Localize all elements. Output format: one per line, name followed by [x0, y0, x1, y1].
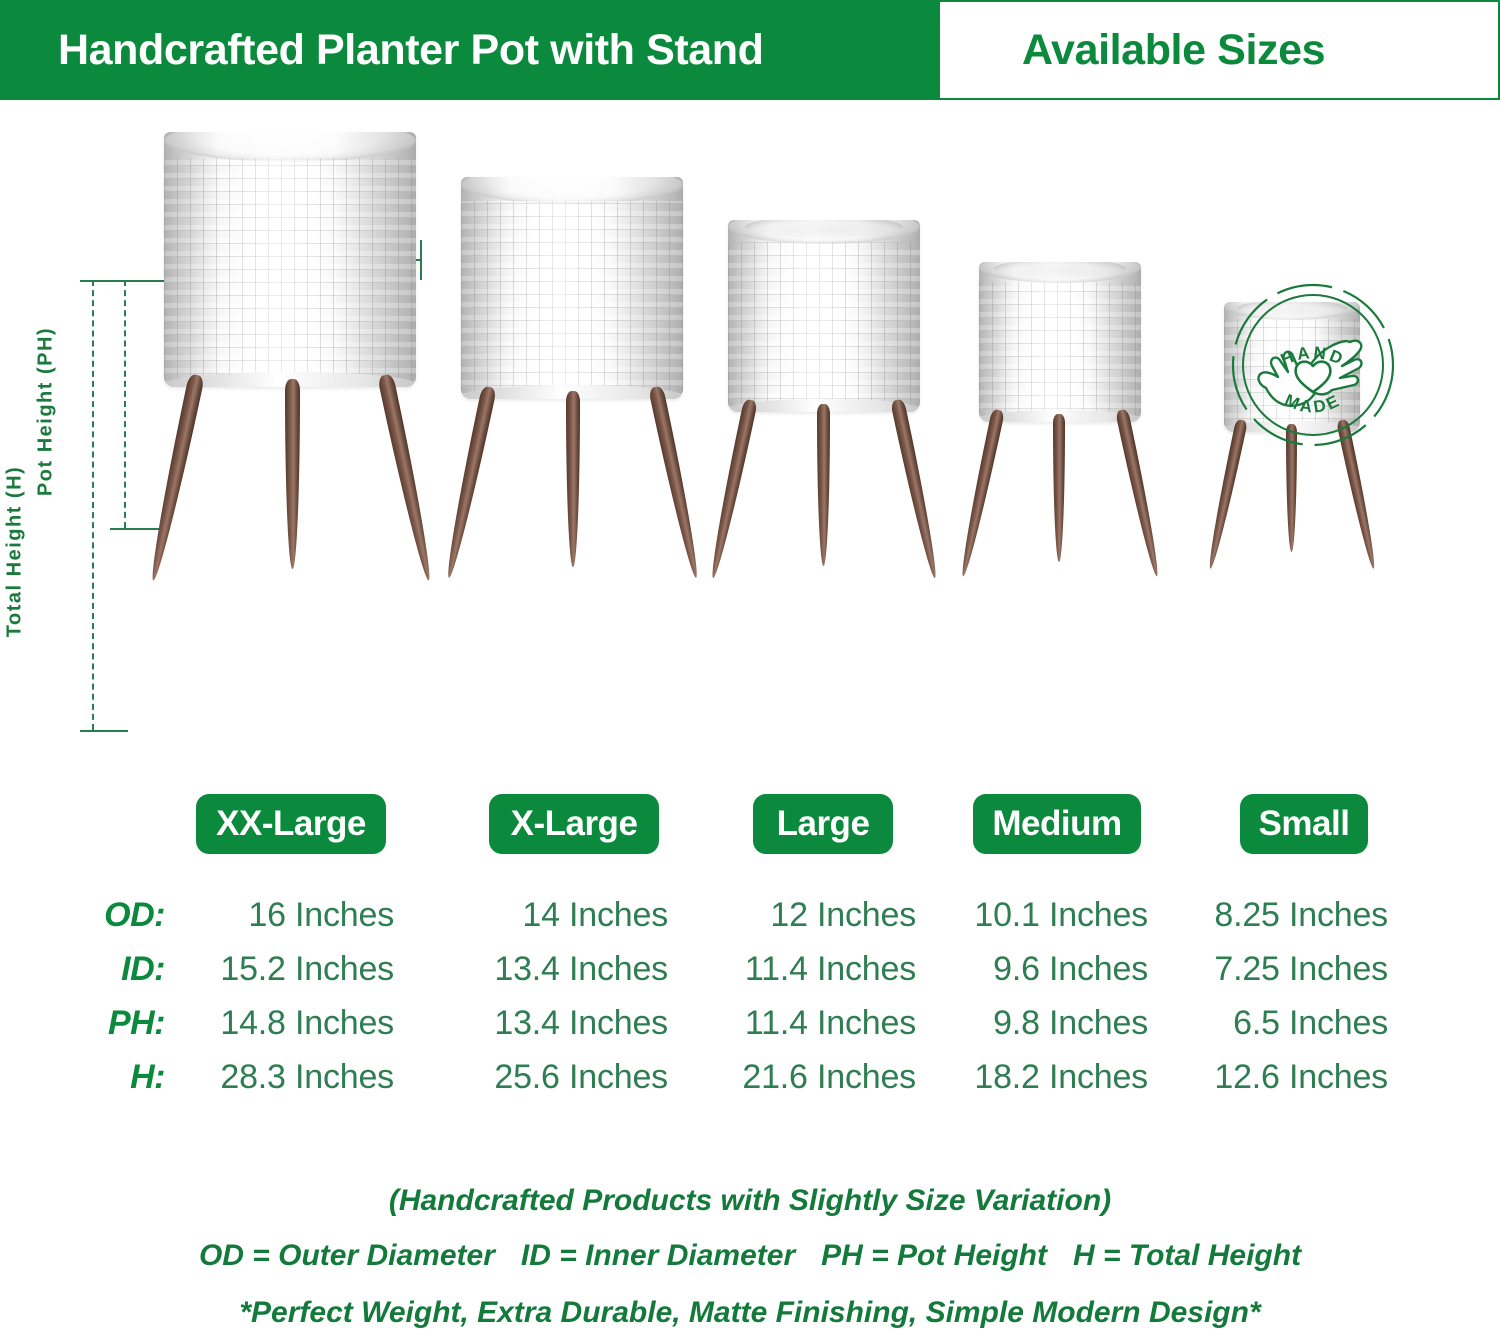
cell-id-medium: 9.6 Inches — [950, 942, 1148, 996]
size-badge-label: XX-Large — [216, 804, 366, 844]
cell-id-x-large: 13.4 Inches — [470, 942, 668, 996]
cell-ph-xx-large: 14.8 Inches — [196, 996, 394, 1050]
pot-body — [979, 262, 1141, 422]
size-badge-label: Large — [777, 804, 870, 844]
cell-ph-medium: 9.8 Inches — [950, 996, 1148, 1050]
table-row: OD: 16 Inches 14 Inches 12 Inches 10.1 I… — [0, 888, 1500, 942]
pot-leg-right — [890, 399, 942, 580]
cell-h-x-large: 25.6 Inches — [470, 1050, 668, 1104]
size-badge-x-large[interactable]: X-Large — [489, 794, 659, 854]
cell-ph-small: 6.5 Inches — [1190, 996, 1388, 1050]
table-row: ID: 15.2 Inches 13.4 Inches 11.4 Inches … — [0, 942, 1500, 996]
handmade-badge: HAND MADE — [1228, 280, 1398, 450]
cell-id-xx-large: 15.2 Inches — [196, 942, 394, 996]
pot-leg-left — [442, 385, 497, 579]
cell-h-xx-large: 28.3 Inches — [196, 1050, 394, 1104]
pot-leg-center — [566, 391, 580, 567]
legend-od: OD = Outer Diameter — [199, 1239, 495, 1272]
legend-h: H = Total Height — [1073, 1239, 1301, 1272]
footer-legend: OD = Outer DiameterID = Inner DiameterPH… — [0, 1227, 1500, 1285]
planter-large — [718, 132, 930, 770]
size-badge-large[interactable]: Large — [753, 794, 893, 854]
pot-leg-right — [1115, 409, 1163, 578]
footer-notes: (Handcrafted Products with Slightly Size… — [0, 1175, 1500, 1341]
pot-gloss — [728, 220, 920, 412]
cell-ph-x-large: 13.4 Inches — [470, 996, 668, 1050]
pot-gloss — [164, 132, 416, 387]
header-subtitle: Available Sizes — [940, 26, 1325, 75]
legend-id: ID = Inner Diameter — [521, 1239, 795, 1272]
cell-od-large: 12 Inches — [718, 888, 916, 942]
pot-body — [461, 177, 683, 399]
total-height-tick-top — [80, 280, 128, 282]
row-key-od: OD: — [0, 888, 165, 942]
size-badge-label: Small — [1259, 804, 1350, 844]
total-height-label: Total Height (H) — [4, 437, 27, 667]
pot-leg-center — [817, 404, 830, 566]
pot-leg-center — [285, 379, 300, 569]
footer-variation-note: (Handcrafted Products with Slightly Size… — [0, 1175, 1500, 1227]
total-height-tick-bottom — [80, 730, 128, 732]
cell-od-small: 8.25 Inches — [1190, 888, 1388, 942]
footer-features-note: *Perfect Weight, Extra Durable, Matte Fi… — [0, 1285, 1500, 1341]
cell-od-medium: 10.1 Inches — [950, 888, 1148, 942]
cell-h-medium: 18.2 Inches — [950, 1050, 1148, 1104]
pot-body — [728, 220, 920, 412]
size-badge-small[interactable]: Small — [1240, 794, 1368, 854]
legend-ph: PH = Pot Height — [821, 1239, 1047, 1272]
planter-small — [1216, 132, 1368, 770]
planter-size-diagram: Inner Diameter (ID) Outer Diameter (OD) … — [0, 100, 1500, 770]
pot-gloss — [979, 262, 1141, 422]
planter-xx-large — [155, 132, 425, 770]
header-bar: Handcrafted Planter Pot with Stand Avail… — [0, 0, 1500, 100]
pot-height-measure-line — [124, 280, 126, 528]
row-key-h: H: — [0, 1050, 165, 1104]
cell-id-small: 7.25 Inches — [1190, 942, 1388, 996]
cell-ph-large: 11.4 Inches — [718, 996, 916, 1050]
cell-od-x-large: 14 Inches — [470, 888, 668, 942]
pot-gloss — [461, 177, 683, 399]
header-subtitle-block: Available Sizes — [938, 0, 1500, 100]
size-badge-xx-large[interactable]: XX-Large — [196, 794, 386, 854]
row-key-ph: PH: — [0, 996, 165, 1050]
size-badge-medium[interactable]: Medium — [973, 794, 1141, 854]
total-height-measure-line — [92, 280, 94, 730]
planter-x-large — [452, 132, 692, 770]
table-row: PH: 14.8 Inches 13.4 Inches 11.4 Inches … — [0, 996, 1500, 1050]
size-badge-label: X-Large — [511, 804, 638, 844]
pot-leg-right — [377, 373, 436, 582]
cell-id-large: 11.4 Inches — [718, 942, 916, 996]
cell-h-large: 21.6 Inches — [718, 1050, 916, 1104]
specifications-table: OD: 16 Inches 14 Inches 12 Inches 10.1 I… — [0, 888, 1500, 1110]
size-badge-row: XX-Large X-Large Large Medium Small — [0, 794, 1500, 856]
pot-leg-right — [648, 385, 703, 579]
size-badge-label: Medium — [992, 804, 1121, 844]
pot-leg-center — [1053, 414, 1065, 562]
cell-od-xx-large: 16 Inches — [196, 888, 394, 942]
handmade-stamp-icon: HAND MADE — [1228, 280, 1398, 450]
table-row: H: 28.3 Inches 25.6 Inches 21.6 Inches 1… — [0, 1050, 1500, 1104]
pot-leg-left — [146, 373, 205, 582]
header-title-block: Handcrafted Planter Pot with Stand — [0, 0, 938, 100]
pot-height-label: Pot Height (PH) — [35, 317, 58, 507]
page-title: Handcrafted Planter Pot with Stand — [0, 26, 764, 75]
pot-leg-left — [706, 399, 758, 580]
row-key-id: ID: — [0, 942, 165, 996]
pot-body — [164, 132, 416, 387]
planter-medium — [970, 132, 1150, 770]
cell-h-small: 12.6 Inches — [1190, 1050, 1388, 1104]
pot-leg-left — [957, 409, 1005, 578]
